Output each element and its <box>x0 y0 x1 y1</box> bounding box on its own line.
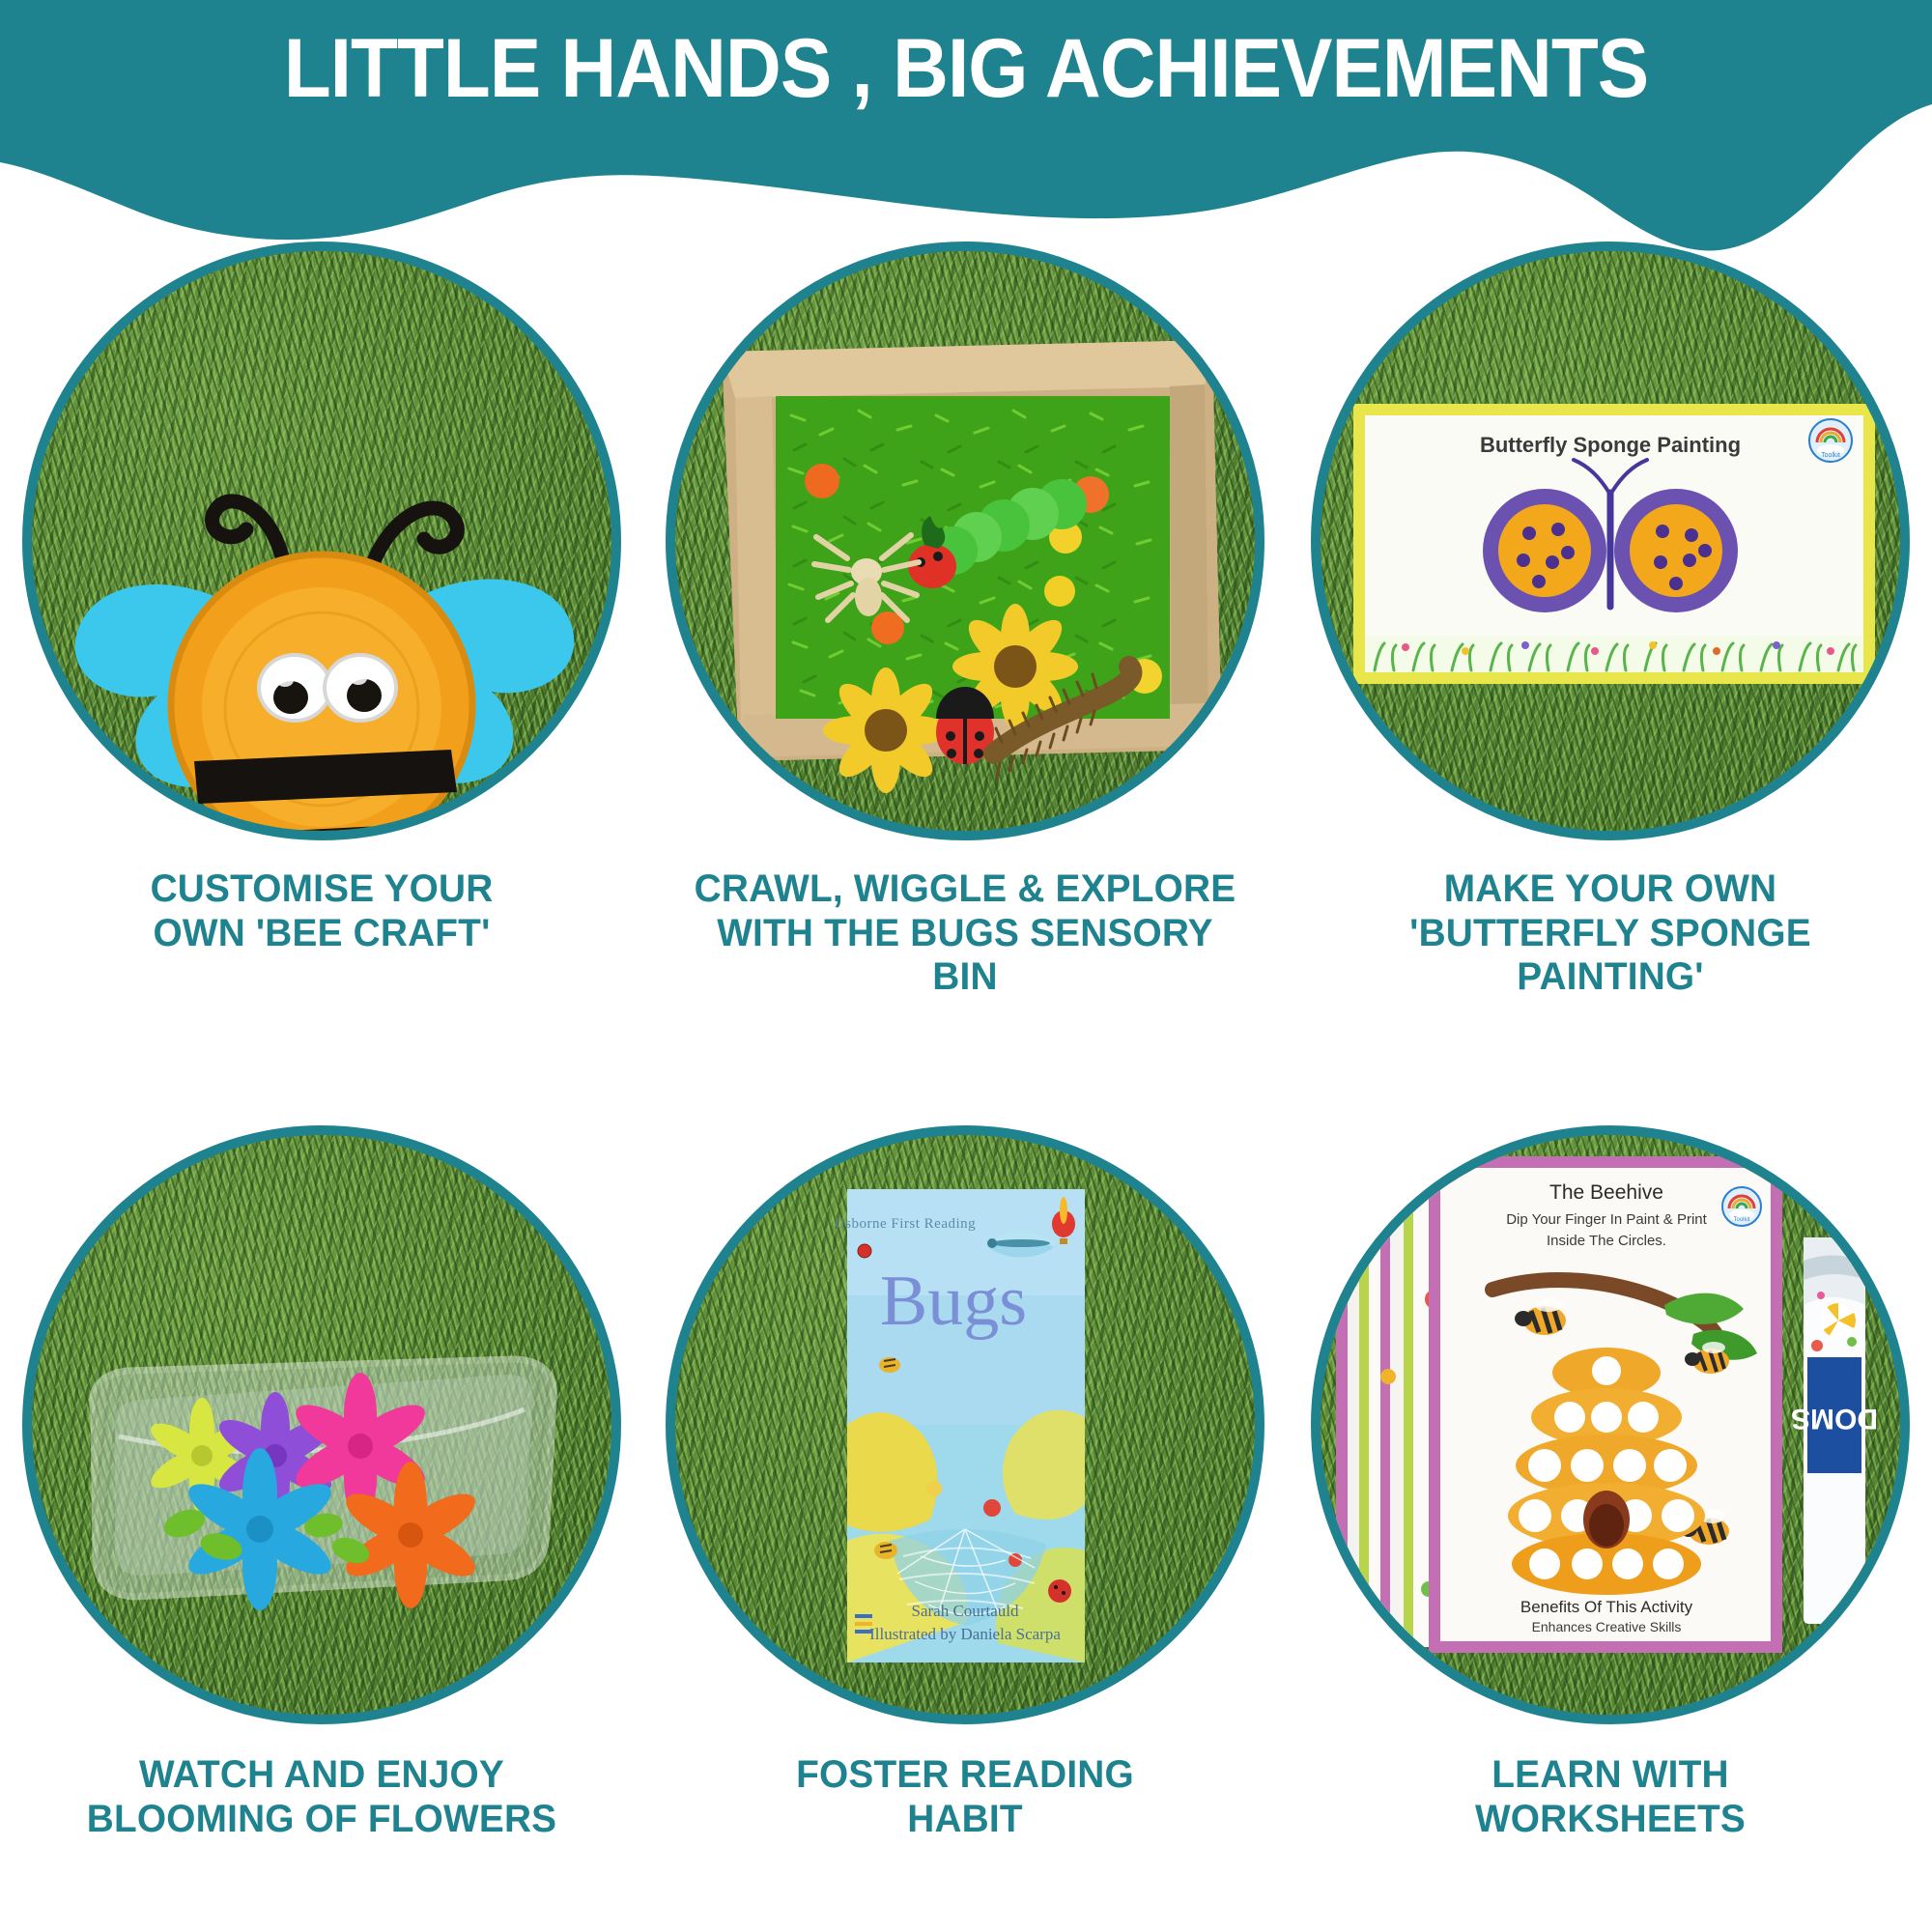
sensory-bin-illustration <box>675 251 1255 831</box>
book-illustrator-text: Illustrated by Daniela Scarpa <box>869 1625 1061 1643</box>
bugs-book-illustration: Usborne First Reading Bugs <box>675 1135 1255 1715</box>
doms-brand-text: DOMS <box>1791 1403 1878 1435</box>
cover-color-bars <box>855 1614 872 1634</box>
grass-border-illustration <box>1365 636 1863 672</box>
photo-bugs-book: Usborne First Reading Bugs <box>666 1125 1264 1724</box>
worksheet-benefits-text: Enhances Creative Skills <box>1532 1619 1682 1634</box>
butterfly-worksheet-illustration: Toolkit Butterfly Sponge Painting <box>1321 251 1900 831</box>
photo-sensory-bin <box>666 241 1264 840</box>
activity-card-butterfly-painting[interactable]: Toolkit Butterfly Sponge Painting <box>1289 241 1932 1130</box>
photo-bee-craft <box>22 241 621 840</box>
photo-butterfly-painting: Toolkit Butterfly Sponge Painting <box>1311 241 1910 840</box>
activity-card-worksheets[interactable]: Toolkit The Beehive Dip Your Finger In P… <box>1289 1116 1932 1932</box>
page-title: LITTLE HANDS , BIG ACHIEVEMENTS <box>68 21 1864 117</box>
caption-sensory-bin: CRAWL, WIGGLE & EXPLORE WITH THE BUGS SE… <box>653 867 1277 1000</box>
worksheets-illustration: Toolkit The Beehive Dip Your Finger In P… <box>1321 1135 1900 1715</box>
worksheet-instruction-1: Dip Your Finger In Paint & Print <box>1506 1211 1707 1228</box>
blooming-flowers-illustration <box>32 1135 611 1715</box>
doms-marker-box: DOMS <box>1791 1237 1878 1624</box>
worksheet-title-beehive: The Beehive <box>1549 1181 1663 1204</box>
book-author-text: Sarah Courtauld <box>912 1602 1019 1620</box>
photo-worksheets: Toolkit The Beehive Dip Your Finger In P… <box>1311 1125 1910 1724</box>
worksheet-title-butterfly: Butterfly Sponge Painting <box>1480 433 1741 457</box>
bee-craft-illustration <box>32 251 611 831</box>
book-series-text: Usborne First Reading <box>835 1216 976 1232</box>
activity-card-reading-habit[interactable]: Usborne First Reading Bugs <box>643 1116 1287 1932</box>
activity-card-sensory-bin[interactable]: CRAWL, WIGGLE & EXPLORE WITH THE BUGS SE… <box>643 241 1287 1130</box>
brand-badge: Toolkit <box>1809 419 1852 462</box>
svg-text:Toolkit: Toolkit <box>1821 452 1840 459</box>
activity-card-bee-craft[interactable]: CUSTOMISE YOUR OWN 'BEE CRAFT' <box>0 241 643 1130</box>
caption-butterfly-painting: MAKE YOUR OWN 'BUTTERFLY SPONGE PAINTING… <box>1298 867 1922 1000</box>
brand-badge: Toolkit <box>1722 1187 1761 1226</box>
caption-bee-craft: CUSTOMISE YOUR OWN 'BEE CRAFT' <box>10 867 634 955</box>
caption-reading-habit: FOSTER READING HABIT <box>653 1753 1277 1841</box>
header-band: LITTLE HANDS , BIG ACHIEVEMENTS <box>0 0 1932 251</box>
book-cover: Usborne First Reading Bugs <box>835 1189 1085 1662</box>
worksheet-benefits-heading: Benefits Of This Activity <box>1520 1598 1693 1616</box>
book-title-text: Bugs <box>880 1262 1027 1341</box>
svg-text:Toolkit: Toolkit <box>1733 1217 1749 1223</box>
worksheet-instruction-2: Inside The Circles. <box>1547 1233 1666 1249</box>
photo-blooming-flowers <box>22 1125 621 1724</box>
caption-worksheets: LEARN WITH WORKSHEETS <box>1298 1753 1922 1841</box>
activity-card-blooming-flowers[interactable]: WATCH AND ENJOY BLOOMING OF FLOWERS <box>0 1116 643 1932</box>
activity-grid: CUSTOMISE YOUR OWN 'BEE CRAFT' <box>0 241 1932 1932</box>
caption-blooming-flowers: WATCH AND ENJOY BLOOMING OF FLOWERS <box>10 1753 634 1841</box>
